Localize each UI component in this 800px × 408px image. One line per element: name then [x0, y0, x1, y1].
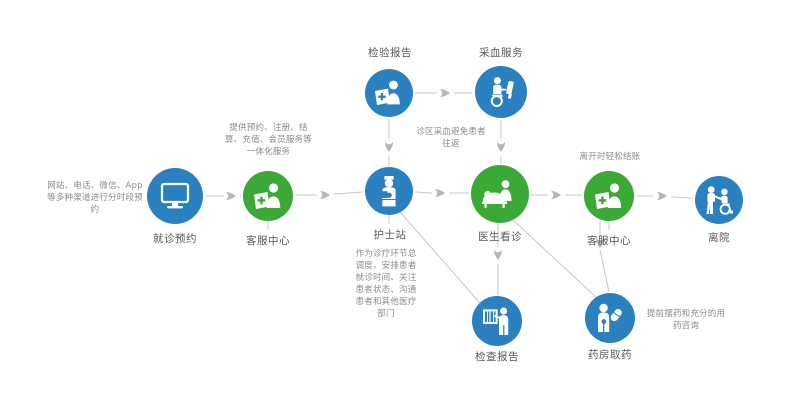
blood-draw-icon: [485, 76, 517, 108]
node-lab-report[interactable]: [365, 69, 413, 117]
lab-report-icon: [373, 79, 405, 107]
node-label-doctor-visit: 医生看诊: [465, 230, 535, 244]
node-pharmacy[interactable]: [585, 293, 635, 343]
node-label-lab-report: 检验报告: [355, 46, 425, 60]
annotation-appointment: 网站、电话、微信、App等多种渠道进行分时段预约: [46, 180, 144, 216]
edge-service1-nurse: [295, 191, 363, 199]
node-label-discharge: 离院: [689, 231, 749, 245]
edge-service2-discharge: [636, 192, 693, 200]
node-label-appointment: 就诊预约: [135, 232, 215, 246]
node-label-exam-report: 检查报告: [462, 350, 532, 364]
edge-appointment-service1: [206, 192, 241, 200]
service-desk-icon: [252, 182, 284, 210]
node-discharge[interactable]: [695, 176, 743, 224]
wheelchair-push-icon: [703, 185, 735, 215]
node-doctor-visit[interactable]: [471, 165, 529, 223]
annotation-nurse-station: 作为诊疗环节总调度、安排患者就诊时间、关注患者状态、沟通患者和其他医疗部门: [355, 248, 417, 320]
service-desk-icon: [593, 182, 625, 210]
nurse-icon: [378, 175, 400, 207]
annotation-service-center-2: 离开时轻松结账: [572, 151, 648, 163]
node-label-pharmacy: 药房取药: [575, 348, 645, 362]
annotation-blood-draw: 诊区采血避免患者往返: [412, 126, 490, 150]
node-appointment[interactable]: [147, 168, 203, 224]
monitor-icon: [159, 181, 191, 211]
node-service-center-2[interactable]: [584, 171, 634, 221]
annotation-pharmacy: 提前摆药和充分的用药咨询: [644, 308, 728, 332]
node-label-blood-draw: 采血服务: [466, 46, 536, 60]
edge-service2-pharmacy-2: [600, 250, 609, 292]
node-nurse-station[interactable]: [365, 167, 413, 215]
node-label-nurse-station: 护士站: [355, 228, 425, 242]
edge-blooddraw-doctor: [497, 120, 505, 164]
pharmacist-icon: [594, 303, 626, 333]
edge-labreport-blooddraw: [415, 89, 472, 97]
xray-report-icon: [481, 306, 513, 336]
edge-doctor-service2: [531, 191, 582, 199]
node-blood-draw[interactable]: [475, 66, 527, 118]
annotation-service-center-1: 提供预约、注册、结算、充值、会员服务等一体化服务: [221, 122, 316, 158]
flow-diagram: 就诊预约 客服中心 护士站: [0, 0, 800, 408]
edge-labreport-nurse: [385, 119, 393, 166]
edge-nurse-doctor: [415, 189, 469, 197]
node-exam-report[interactable]: [472, 296, 522, 346]
node-service-center-1[interactable]: [243, 171, 293, 221]
doctor-exam-icon: [480, 179, 520, 209]
node-label-service-center-1: 客服中心: [228, 234, 308, 248]
node-label-service-center-2: 客服中心: [569, 234, 649, 248]
